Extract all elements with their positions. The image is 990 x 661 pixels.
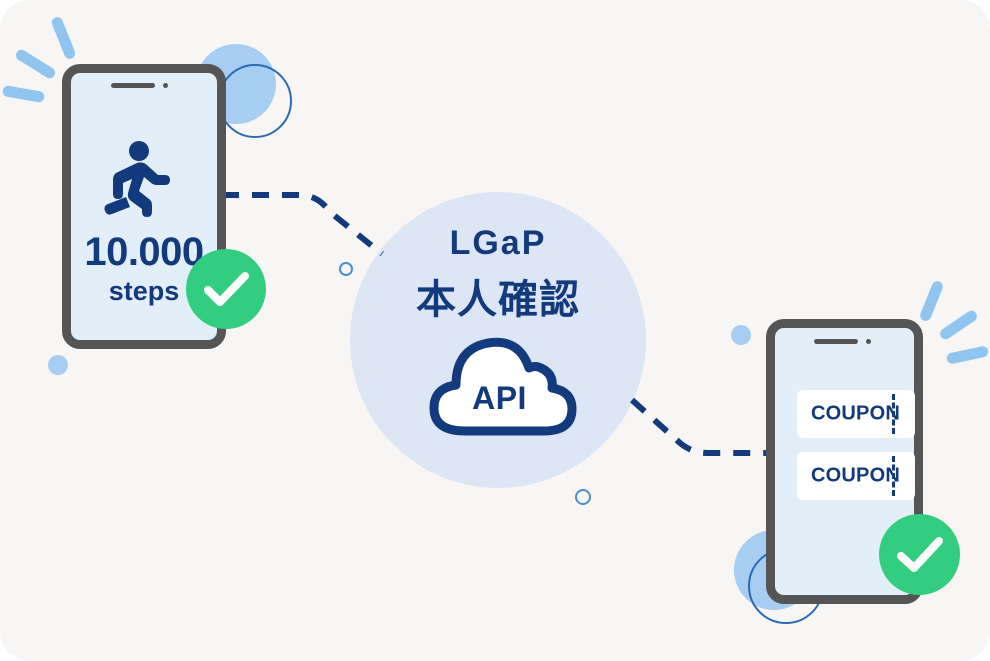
illustration-canvas: 10.000 steps LGaP 本人確認 API COUPON COUPON <box>0 0 990 661</box>
decor-dot-bottom-left <box>48 355 68 375</box>
coupon-label: COUPON <box>811 403 900 426</box>
hub-title-jp: 本人確認 <box>350 267 646 325</box>
coupon-label: COUPON <box>811 465 900 488</box>
phone-speaker-icon <box>814 339 858 344</box>
steps-check-badge <box>186 249 266 329</box>
decor-ring-center <box>575 489 591 505</box>
coupon-perforation-line <box>892 456 895 496</box>
decor-dot-right <box>731 325 751 345</box>
coupon-perforation-line <box>892 394 895 434</box>
cloud-api-label: API <box>422 380 577 417</box>
lgap-identity-hub: LGaP 本人確認 API <box>350 192 646 488</box>
hub-title-en: LGaP <box>350 224 646 263</box>
running-person-icon <box>104 141 170 217</box>
coupon-card-1[interactable]: COUPON <box>797 390 915 438</box>
check-circle-icon <box>879 514 960 595</box>
coupon-card-2[interactable]: COUPON <box>797 452 915 500</box>
phone-speaker-icon <box>111 83 155 88</box>
cloud-icon: API <box>422 332 577 437</box>
coupon-check-badge <box>879 514 960 595</box>
phone-camera-icon <box>163 83 168 88</box>
check-circle-icon <box>186 249 266 329</box>
phone-camera-icon <box>866 339 871 344</box>
